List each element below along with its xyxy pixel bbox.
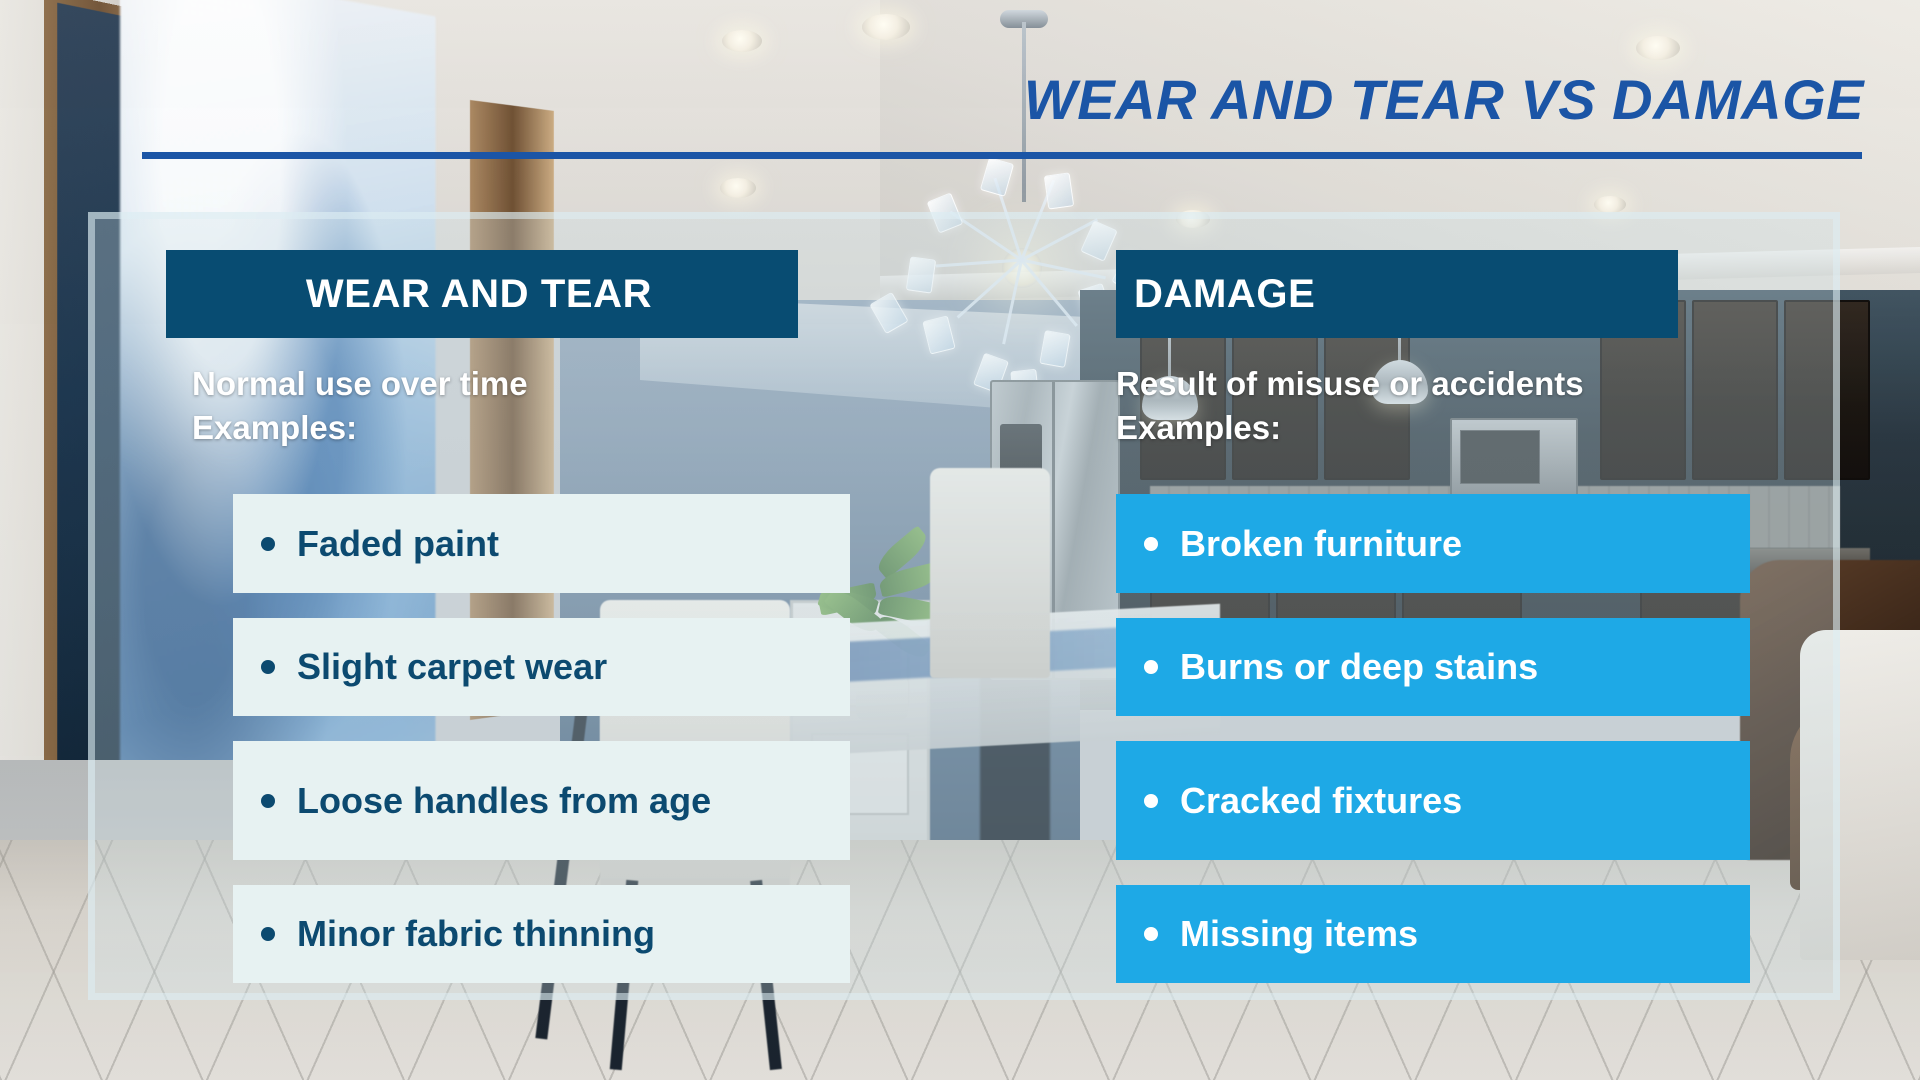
bullet-dot-icon xyxy=(1144,927,1158,941)
column-subtitle-line2: Examples: xyxy=(192,406,798,450)
list-item[interactable]: Slight carpet wear xyxy=(233,618,850,716)
list-item-label: Slight carpet wear xyxy=(297,646,607,688)
column-damage: DAMAGE Result of misuse or accidents Exa… xyxy=(1116,250,1678,450)
list-item[interactable]: Broken furniture xyxy=(1116,494,1750,593)
infographic-slide: WEAR AND TEAR VS DAMAGE WEAR AND TEAR No… xyxy=(0,0,1920,1080)
list-item[interactable]: Minor fabric thinning xyxy=(233,885,850,983)
bullet-dot-icon xyxy=(261,794,275,808)
list-item-label: Loose handles from age xyxy=(297,780,711,822)
bullet-dot-icon xyxy=(261,927,275,941)
list-item-label: Broken furniture xyxy=(1180,523,1462,565)
list-item[interactable]: Loose handles from age xyxy=(233,741,850,860)
bullet-dot-icon xyxy=(261,537,275,551)
list-item-label: Missing items xyxy=(1180,913,1418,955)
bullet-dot-icon xyxy=(1144,794,1158,808)
list-item-label: Burns or deep stains xyxy=(1180,646,1538,688)
list-item[interactable]: Cracked fixtures xyxy=(1116,741,1750,860)
bullet-dot-icon xyxy=(261,660,275,674)
bullet-list-damage: Broken furniture Burns or deep stains Cr… xyxy=(1116,494,1750,983)
column-subtitle-line2: Examples: xyxy=(1116,406,1678,450)
bullet-dot-icon xyxy=(1144,537,1158,551)
list-item[interactable]: Missing items xyxy=(1116,885,1750,983)
column-subtitle-line1: Normal use over time xyxy=(192,362,798,406)
column-subtitle-damage: Result of misuse or accidents Examples: xyxy=(1116,362,1678,450)
column-subtitle-line1: Result of misuse or accidents xyxy=(1116,362,1678,406)
column-subtitle-wear-and-tear: Normal use over time Examples: xyxy=(166,362,798,450)
list-item[interactable]: Burns or deep stains xyxy=(1116,618,1750,716)
column-header-damage: DAMAGE xyxy=(1116,250,1678,338)
list-item-label: Minor fabric thinning xyxy=(297,913,655,955)
title-underline-rule xyxy=(142,152,1862,159)
list-item-label: Cracked fixtures xyxy=(1180,780,1462,822)
column-header-label: WEAR AND TEAR xyxy=(306,272,658,317)
bullet-dot-icon xyxy=(1144,660,1158,674)
column-wear-and-tear: WEAR AND TEAR Normal use over time Examp… xyxy=(166,250,798,450)
column-header-wear-and-tear: WEAR AND TEAR xyxy=(166,250,798,338)
list-item[interactable]: Faded paint xyxy=(233,494,850,593)
list-item-label: Faded paint xyxy=(297,523,499,565)
column-header-label: DAMAGE xyxy=(1116,272,1315,317)
bullet-list-wear-and-tear: Faded paint Slight carpet wear Loose han… xyxy=(233,494,850,983)
page-title: WEAR AND TEAR VS DAMAGE xyxy=(964,58,1864,140)
